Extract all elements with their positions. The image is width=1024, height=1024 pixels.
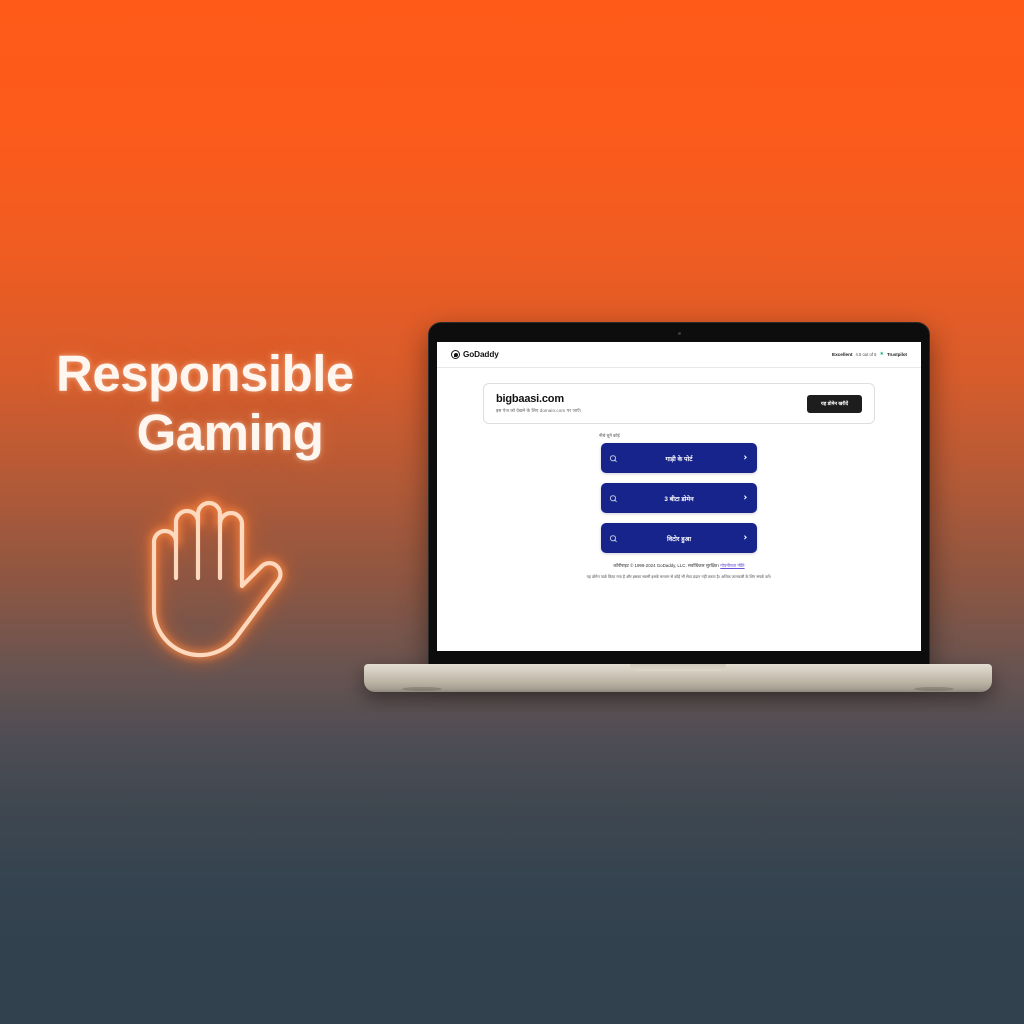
search-icon bbox=[610, 455, 616, 461]
search-icon bbox=[610, 535, 616, 541]
search-icon bbox=[610, 495, 616, 501]
options-label: नीचे चुनें कोई bbox=[437, 433, 921, 439]
webcam-icon bbox=[678, 332, 681, 335]
godaddy-parked-domain-page: GoDaddy Excellent 4.5 out of 5 ★ Trustpi… bbox=[437, 342, 921, 651]
godaddy-mark-icon bbox=[451, 350, 460, 359]
domain-card: bigbaasi.com इस पेज को देखने के लिए doma… bbox=[483, 383, 875, 424]
trustpilot-rating[interactable]: Excellent 4.5 out of 5 ★ Trustpilot bbox=[832, 352, 907, 357]
domain-name: bigbaasi.com bbox=[496, 393, 582, 405]
poster-canvas: Responsible Gaming Go bbox=[0, 0, 1024, 1024]
privacy-policy-link[interactable]: गोपनीयता नीति bbox=[720, 563, 744, 568]
chevron-right-icon bbox=[742, 536, 747, 541]
laptop-screen: GoDaddy Excellent 4.5 out of 5 ★ Trustpi… bbox=[437, 342, 921, 651]
chevron-right-icon bbox=[742, 456, 747, 461]
site-footer: कॉपीराइट © 1999-2024 GoDaddy, LLC. सर्वा… bbox=[437, 563, 921, 580]
trust-score: 4.5 out of 5 bbox=[856, 352, 877, 357]
disclaimer-text: यह डोमेन पार्क किया गया है और इसका स्वाम… bbox=[465, 574, 893, 580]
option-label: गाड़ी के पोर्ट bbox=[666, 454, 693, 463]
trust-word: Excellent bbox=[832, 352, 853, 357]
laptop-mockup: GoDaddy Excellent 4.5 out of 5 ★ Trustpi… bbox=[364, 322, 992, 692]
godaddy-logo[interactable]: GoDaddy bbox=[451, 350, 499, 359]
laptop-foot-right bbox=[914, 687, 954, 691]
trustpilot-brand: Trustpilot bbox=[887, 352, 907, 357]
laptop-base bbox=[364, 664, 992, 692]
copyright-line: कॉपीराइट © 1999-2024 GoDaddy, LLC. सर्वा… bbox=[465, 563, 893, 569]
laptop-foot-left bbox=[402, 687, 442, 691]
option-button-3[interactable]: विटोर हुआ bbox=[601, 523, 757, 553]
option-button-1[interactable]: गाड़ी के पोर्ट bbox=[601, 443, 757, 473]
domain-subtitle: इस पेज को देखने के लिए domain.com पर जाए… bbox=[496, 408, 582, 414]
stop-hand-neon-icon bbox=[132, 470, 302, 670]
star-icon: ★ bbox=[880, 352, 884, 357]
laptop-lid: GoDaddy Excellent 4.5 out of 5 ★ Trustpi… bbox=[428, 322, 930, 670]
option-label: 3 बीटा डोमेन bbox=[664, 494, 693, 503]
chevron-right-icon bbox=[742, 496, 747, 501]
domain-card-text: bigbaasi.com इस पेज को देखने के लिए doma… bbox=[496, 393, 582, 414]
buy-domain-button[interactable]: यह डोमेन खरीदें bbox=[807, 395, 862, 413]
site-header: GoDaddy Excellent 4.5 out of 5 ★ Trustpi… bbox=[437, 342, 921, 368]
option-button-2[interactable]: 3 बीटा डोमेन bbox=[601, 483, 757, 513]
option-label: विटोर हुआ bbox=[667, 534, 691, 543]
laptop-base-notch bbox=[630, 664, 726, 671]
copyright-text: कॉपीराइट © 1999-2024 GoDaddy, LLC. सर्वा… bbox=[613, 563, 720, 568]
brand-name: GoDaddy bbox=[463, 350, 499, 359]
